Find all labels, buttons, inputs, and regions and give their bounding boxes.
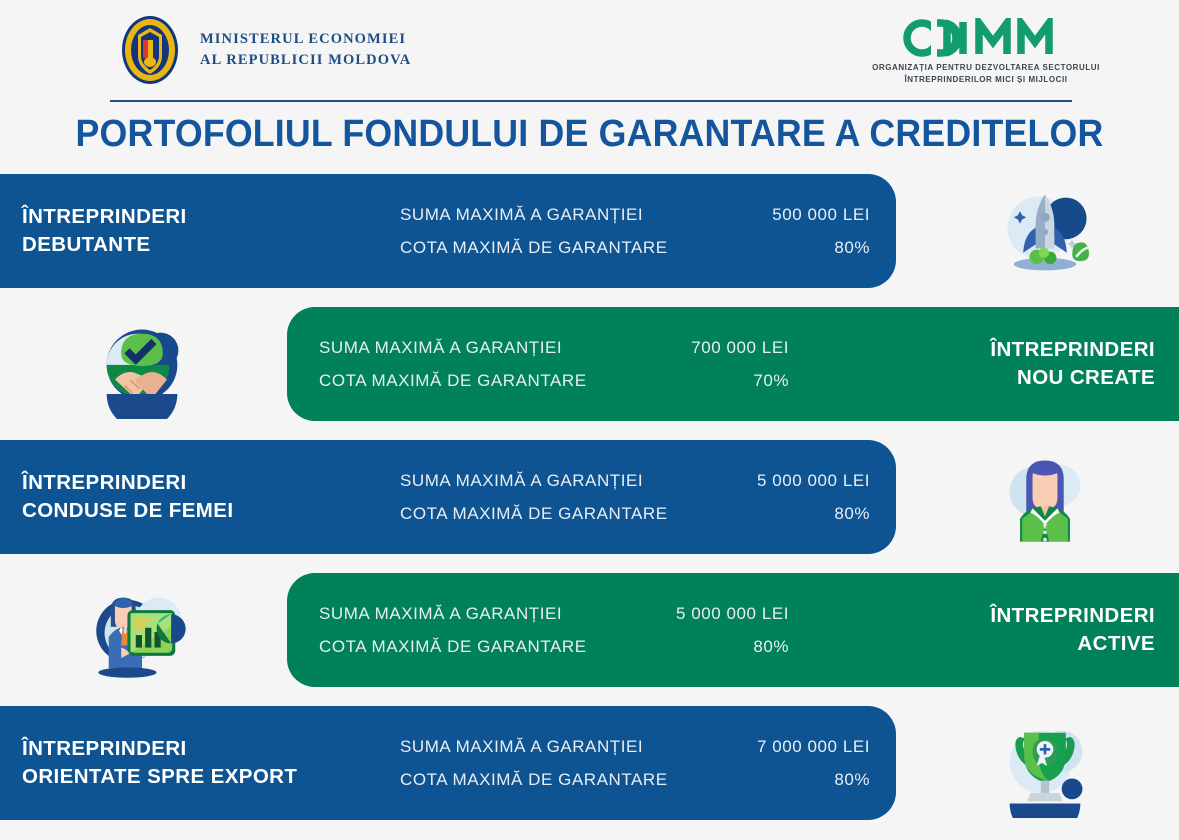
metric-value: 80% [834, 497, 870, 530]
moldova-coat-of-arms-icon [114, 14, 186, 86]
row-category-label: ÎNTREPRINDERI DEBUTANTE [22, 203, 187, 260]
portfolio-row: ÎNTREPRINDERI ACTIVE SUMA MAXIMĂ A GARAN… [0, 573, 1179, 706]
row-icon-slot [82, 577, 202, 689]
header-divider [110, 100, 1072, 102]
metric-cota: COTA MAXIMĂ DE GARANTARE 80% [319, 630, 789, 663]
odimm-wordmark-icon [901, 18, 1071, 58]
portfolio-row: ÎNTREPRINDERI DEBUTANTE SUMA MAXIMĂ A GA… [0, 174, 1179, 307]
metric-value: 5 000 000 LEI [676, 597, 789, 630]
portfolio-row: ÎNTREPRINDERI CONDUSE DE FEMEI SUMA MAXI… [0, 440, 1179, 573]
metric-cota: COTA MAXIMĂ DE GARANTARE 80% [400, 231, 870, 264]
metric-value: 80% [834, 763, 870, 796]
row-bar-active[interactable]: ÎNTREPRINDERI ACTIVE SUMA MAXIMĂ A GARAN… [287, 573, 1179, 687]
odimm-subtitle: ORGANIZAȚIA PENTRU DEZVOLTAREA SECTORULU… [866, 62, 1106, 85]
odimm-logo: ORGANIZAȚIA PENTRU DEZVOLTAREA SECTORULU… [866, 18, 1106, 85]
row-icon-slot [985, 178, 1105, 290]
rocket-launch-icon [993, 182, 1097, 286]
row-metrics: SUMA MAXIMĂ A GARANȚIEI 5 000 000 LEI CO… [319, 597, 789, 663]
metric-cota: COTA MAXIMĂ DE GARANTARE 80% [400, 497, 870, 530]
metric-label: COTA MAXIMĂ DE GARANTARE [400, 497, 668, 530]
trophy-award-icon [993, 714, 1097, 818]
handshake-check-icon [90, 315, 194, 419]
ministry-name: MINISTERUL ECONOMIEI AL REPUBLICII MOLDO… [200, 29, 411, 71]
metric-label: SUMA MAXIMĂ A GARANȚIEI [319, 597, 562, 630]
row-icon-slot [985, 710, 1105, 822]
row-metrics: SUMA MAXIMĂ A GARANȚIEI 700 000 LEI COTA… [319, 331, 789, 397]
metric-value: 5 000 000 LEI [757, 464, 870, 497]
metric-label: SUMA MAXIMĂ A GARANȚIEI [400, 198, 643, 231]
businesswoman-icon [993, 448, 1097, 552]
metric-label: SUMA MAXIMĂ A GARANȚIEI [319, 331, 562, 364]
row-metrics: SUMA MAXIMĂ A GARANȚIEI 5 000 000 LEI CO… [400, 464, 870, 530]
ministry-logo: MINISTERUL ECONOMIEI AL REPUBLICII MOLDO… [114, 14, 411, 86]
row-bar-conduse-de-femei[interactable]: ÎNTREPRINDERI CONDUSE DE FEMEI SUMA MAXI… [0, 440, 896, 554]
metric-suma: SUMA MAXIMĂ A GARANȚIEI 5 000 000 LEI [400, 464, 870, 497]
portfolio-rows: ÎNTREPRINDERI DEBUTANTE SUMA MAXIMĂ A GA… [0, 174, 1179, 839]
row-icon-slot [82, 311, 202, 423]
metric-value: 70% [753, 364, 789, 397]
metric-label: COTA MAXIMĂ DE GARANTARE [400, 763, 668, 796]
metric-suma: SUMA MAXIMĂ A GARANȚIEI 500 000 LEI [400, 198, 870, 231]
row-category-label: ÎNTREPRINDERI ORIENTATE SPRE EXPORT [22, 735, 297, 792]
metric-cota: COTA MAXIMĂ DE GARANTARE 80% [400, 763, 870, 796]
metric-label: COTA MAXIMĂ DE GARANTARE [319, 364, 587, 397]
row-bar-orientate-spre-export[interactable]: ÎNTREPRINDERI ORIENTATE SPRE EXPORT SUMA… [0, 706, 896, 820]
metric-value: 80% [753, 630, 789, 663]
metric-suma: SUMA MAXIMĂ A GARANȚIEI 5 000 000 LEI [319, 597, 789, 630]
metric-label: SUMA MAXIMĂ A GARANȚIEI [400, 730, 643, 763]
metric-cota: COTA MAXIMĂ DE GARANTARE 70% [319, 364, 789, 397]
metric-label: SUMA MAXIMĂ A GARANȚIEI [400, 464, 643, 497]
row-category-label: ÎNTREPRINDERI ACTIVE [990, 602, 1155, 659]
portfolio-row: ÎNTREPRINDERI ORIENTATE SPRE EXPORT SUMA… [0, 706, 1179, 839]
metric-label: COTA MAXIMĂ DE GARANTARE [319, 630, 587, 663]
metric-label: COTA MAXIMĂ DE GARANTARE [400, 231, 668, 264]
infographic-page: MINISTERUL ECONOMIEI AL REPUBLICII MOLDO… [0, 0, 1179, 840]
row-category-label: ÎNTREPRINDERI NOU CREATE [990, 336, 1155, 393]
metric-value: 500 000 LEI [772, 198, 870, 231]
row-bar-debutante[interactable]: ÎNTREPRINDERI DEBUTANTE SUMA MAXIMĂ A GA… [0, 174, 896, 288]
metric-suma: SUMA MAXIMĂ A GARANȚIEI 7 000 000 LEI [400, 730, 870, 763]
business-chart-presenter-icon [90, 581, 194, 685]
metric-value: 7 000 000 LEI [757, 730, 870, 763]
row-category-label: ÎNTREPRINDERI CONDUSE DE FEMEI [22, 469, 233, 526]
row-metrics: SUMA MAXIMĂ A GARANȚIEI 7 000 000 LEI CO… [400, 730, 870, 796]
metric-suma: SUMA MAXIMĂ A GARANȚIEI 700 000 LEI [319, 331, 789, 364]
metric-value: 80% [834, 231, 870, 264]
portfolio-row: ÎNTREPRINDERI NOU CREATE SUMA MAXIMĂ A G… [0, 307, 1179, 440]
row-icon-slot [985, 444, 1105, 556]
metric-value: 700 000 LEI [691, 331, 789, 364]
row-metrics: SUMA MAXIMĂ A GARANȚIEI 500 000 LEI COTA… [400, 198, 870, 264]
page-title: PORTOFOLIUL FONDULUI DE GARANTARE A CRED… [35, 113, 1143, 156]
row-bar-nou-create[interactable]: ÎNTREPRINDERI NOU CREATE SUMA MAXIMĂ A G… [287, 307, 1179, 421]
header: MINISTERUL ECONOMIEI AL REPUBLICII MOLDO… [0, 0, 1179, 100]
